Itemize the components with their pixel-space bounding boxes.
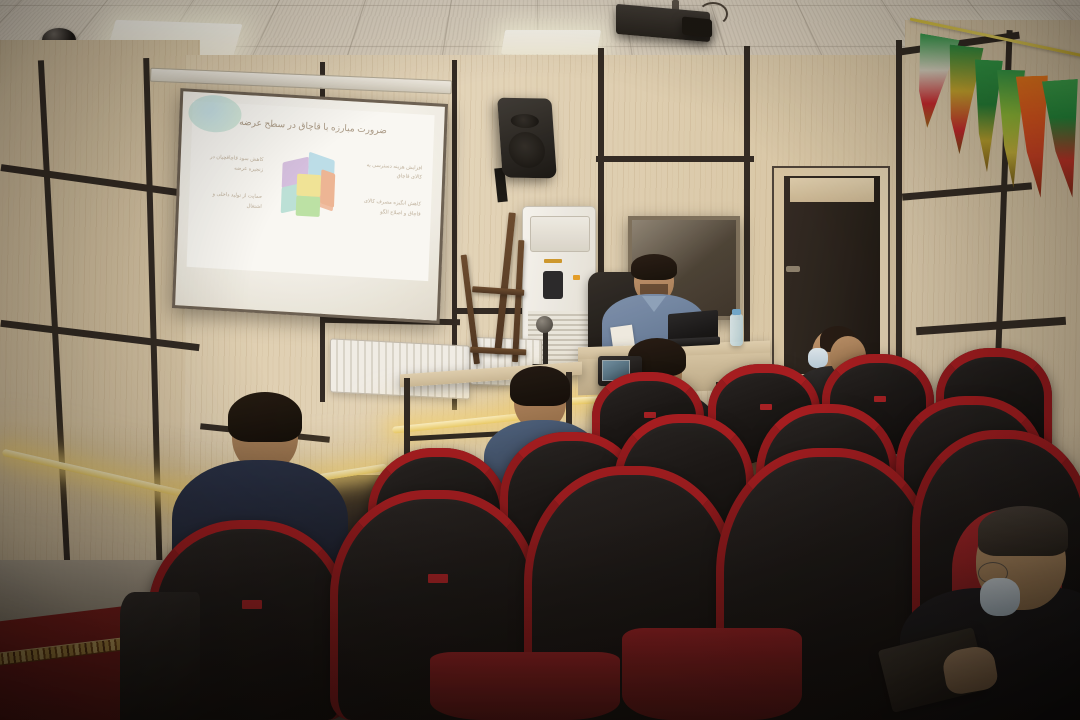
chair-seat-cushion-2 bbox=[622, 628, 802, 720]
slide-note-top-right: افزایش هزینه دسترسی به کالای قاچاق bbox=[359, 161, 422, 184]
cube-face-right-peach bbox=[320, 169, 335, 208]
projection-screen: ضرورت مبارزه با قاچاق در سطح عرضه افزایش… bbox=[172, 88, 448, 324]
water-bottle bbox=[730, 314, 743, 346]
water-bottle-cap bbox=[732, 309, 741, 315]
attendee-blue-shirt-hair bbox=[510, 366, 570, 406]
chair-logo-badge bbox=[242, 600, 262, 609]
ac-display-panel bbox=[543, 271, 563, 299]
attendee-navy-suit-hair bbox=[228, 392, 302, 442]
slide-title: ضرورت مبارزه با قاچاق در سطح عرضه bbox=[192, 114, 433, 139]
speaker-woofer bbox=[508, 132, 547, 169]
presenter-hair bbox=[631, 254, 677, 280]
slide-note-bottom-right: کاهش انگیزه مصرف کالای قاچاق و اصلاح الگ… bbox=[358, 197, 421, 220]
wall-panel-left bbox=[0, 40, 200, 600]
door-handle[interactable] bbox=[786, 266, 800, 272]
slide-note-top-left: کاهش سود قاچاقچیان در زنجیره عرضه bbox=[200, 153, 263, 176]
door-top-panel bbox=[790, 178, 874, 202]
ceiling-panel-light-2 bbox=[501, 30, 601, 54]
chair-logo-badge bbox=[428, 574, 448, 583]
wall-pa-speaker bbox=[497, 98, 557, 179]
ac-indicator-light bbox=[573, 275, 580, 280]
projector-cable bbox=[698, 2, 728, 26]
conference-room-photo: ضرورت مبارزه با قاچاق در سطح عرضه افزایش… bbox=[0, 0, 1080, 720]
wall-seam-v7 bbox=[896, 40, 902, 400]
ac-brand-label bbox=[544, 259, 562, 263]
chair-seat-cushion-1 bbox=[430, 652, 620, 720]
cube-face-center-green bbox=[296, 195, 321, 216]
desk-microphone-head bbox=[536, 316, 553, 333]
wall-radiator-left bbox=[330, 338, 470, 399]
attendee-glasses-tablet-mask bbox=[980, 578, 1020, 616]
slide-note-bottom-left: حمایت از تولید داخلی و اشتغال bbox=[199, 189, 262, 212]
ac-top-vent bbox=[530, 216, 590, 252]
wall-seam-v6 bbox=[744, 46, 750, 376]
cube-face-center-yellow bbox=[296, 173, 321, 196]
presentation-slide: ضرورت مبارزه با قاچاق در سطح عرضه افزایش… bbox=[187, 100, 434, 281]
wall-seam-h5 bbox=[596, 156, 754, 162]
speaker-tweeter bbox=[510, 114, 539, 128]
chair-logo-badge bbox=[874, 396, 886, 402]
slide-cube-graphic bbox=[279, 152, 343, 218]
wall-woodgrain-left bbox=[0, 40, 200, 600]
chair-front-left-arm bbox=[120, 592, 200, 720]
attendee-glasses-tablet-hair bbox=[978, 506, 1068, 556]
